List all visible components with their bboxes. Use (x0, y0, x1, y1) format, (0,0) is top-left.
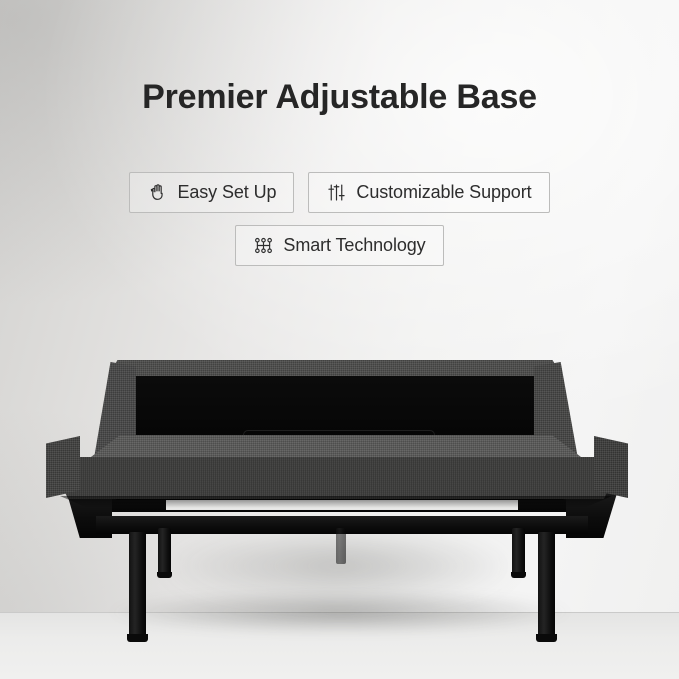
feature-badge-row: Smart Technology (0, 225, 679, 266)
feature-badge-label: Customizable Support (356, 182, 531, 203)
feature-badge-group: Easy Set Up Customizable Support (0, 172, 679, 266)
product-illustration (0, 330, 679, 650)
page-title: Premier Adjustable Base (0, 76, 679, 119)
leg-foot-back-right (511, 572, 526, 578)
leg-foot-back-left (157, 572, 172, 578)
base-front-rail-top (48, 435, 624, 459)
feature-badge-row: Easy Set Up Customizable Support (0, 172, 679, 213)
base-rail-right-endcap (594, 436, 628, 498)
leg-foot-front-right (536, 634, 557, 642)
feature-badge-smart-technology[interactable]: Smart Technology (235, 225, 443, 266)
product-hero-image: Premier Adjustable Base Easy Set Up (0, 0, 679, 679)
leg-front-right (538, 532, 555, 638)
leg-back-right (512, 528, 525, 574)
base-rail-undershadow (60, 496, 612, 508)
leg-foot-front-left (127, 634, 148, 642)
base-front-rail-face (48, 457, 624, 499)
base-rail-left-endcap (46, 436, 80, 498)
circuit-nodes-icon (253, 235, 274, 256)
feature-badge-label: Smart Technology (283, 235, 425, 256)
hand-raised-icon (147, 182, 168, 203)
leg-center-support (336, 528, 346, 564)
feature-badge-easy-set-up[interactable]: Easy Set Up (129, 172, 294, 213)
feature-badge-label: Easy Set Up (177, 182, 276, 203)
sliders-icon (326, 182, 347, 203)
base-head-panel-edge (96, 360, 574, 376)
leg-back-left (158, 528, 171, 574)
feature-badge-customizable-support[interactable]: Customizable Support (308, 172, 549, 213)
leg-front-left (129, 532, 146, 638)
